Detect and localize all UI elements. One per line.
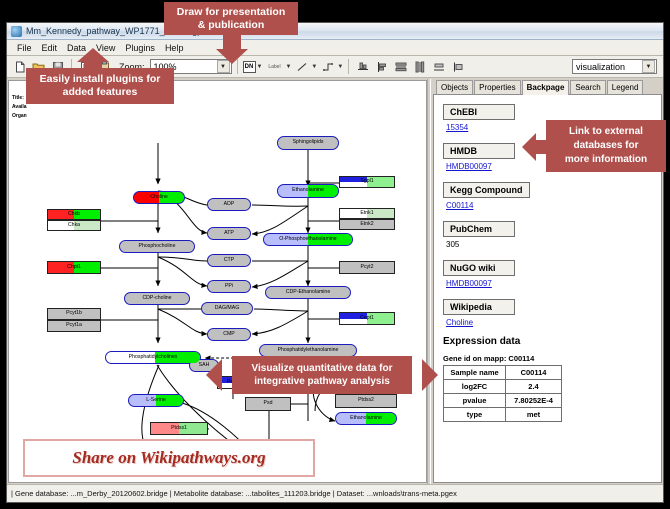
node-label: Ethanolamine	[350, 416, 382, 421]
node-ppi[interactable]: PPi	[207, 280, 251, 293]
node-phosphatidylcholines[interactable]: Phosphatidylcholines	[105, 351, 201, 364]
share-banner: Share on Wikipathways.org	[23, 439, 315, 477]
node-dag-mag[interactable]: DAG/MAG	[201, 302, 253, 315]
node-etnk1[interactable]: Etnk1	[339, 208, 395, 219]
node-label: PPi	[225, 284, 233, 289]
table-cell-key: type	[444, 408, 506, 422]
connector-icon[interactable]	[319, 58, 336, 75]
connector-dropdown[interactable]: ▼	[319, 58, 343, 75]
backpage-link-wikipedia[interactable]: Choline	[446, 318, 661, 327]
chevron-down-icon[interactable]: ▼	[311, 64, 317, 70]
node-label: CDP-Ethanolamine	[286, 290, 330, 295]
node-psd[interactable]: Psd	[245, 397, 291, 411]
node-cept1[interactable]: Cept1	[339, 312, 395, 325]
table-cell-value: 7.80252E-4	[506, 394, 562, 408]
table-cell-value: C00114	[506, 366, 562, 380]
node-sphingolipids[interactable]: Sphingolipids	[277, 136, 339, 150]
backpage-header-pubchem: PubChem	[443, 221, 515, 237]
node-ethanolamine-bottom[interactable]: Ethanolamine	[335, 412, 397, 425]
line-dropdown[interactable]: ▼	[293, 58, 317, 75]
side-panel-tabs: Objects Properties Backpage Search Legen…	[433, 80, 662, 95]
chevron-down-icon[interactable]: ▼	[642, 60, 655, 73]
chevron-down-icon[interactable]: ▼	[337, 64, 343, 70]
node-pcyt2[interactable]: Pcyt2	[339, 261, 395, 274]
distribute-horizontal-icon[interactable]	[411, 58, 428, 75]
label-dropdown[interactable]: Label ▼	[264, 58, 291, 75]
tab-backpage[interactable]: Backpage	[522, 80, 570, 95]
backpage-header-chebi: ChEBI	[443, 104, 515, 120]
node-label: Ptdss1	[171, 426, 187, 431]
node-label: CTP	[224, 258, 234, 263]
node-phosphocholine[interactable]: Phosphocholine	[119, 240, 195, 253]
node-label: CDP-choline	[142, 296, 171, 301]
menu-help[interactable]: Help	[160, 43, 189, 53]
backpage-header-nugo: NuGO wiki	[443, 260, 515, 276]
node-label: ATP	[224, 231, 234, 236]
pathway-diagram[interactable]: Sphingolipids Ethanolamine O-Phosphoetha…	[9, 81, 426, 482]
app-icon	[11, 26, 22, 37]
backpage-link-kegg[interactable]: C00114	[446, 201, 661, 210]
links-callout-line2: databases for	[573, 139, 638, 153]
chevron-down-icon[interactable]: ▼	[285, 64, 291, 70]
node-cdp-choline[interactable]: CDP-choline	[124, 292, 190, 305]
links-callout-line3: more information	[565, 153, 647, 167]
node-chpt1[interactable]: Chpt1	[47, 261, 101, 274]
node-label: Cept1	[360, 316, 374, 321]
node-label: Pcyt1b	[66, 311, 82, 316]
node-o-phosphoethanolamine[interactable]: O-Phosphoethanolamine	[263, 233, 353, 246]
node-label: Pcyt1a	[66, 323, 82, 328]
backpage-header-hmdb: HMDB	[443, 143, 515, 159]
draw-callout: Draw for presentation & publication	[164, 2, 298, 35]
node-chkb[interactable]: Chkb	[47, 209, 101, 220]
table-cell-key: Sample name	[444, 366, 506, 380]
node-label: Choline	[150, 195, 168, 200]
visualize-callout-line2: integrative pathway analysis	[254, 375, 390, 388]
node-label: Pcyt2	[361, 265, 374, 270]
align-left-icon[interactable]	[373, 58, 390, 75]
node-cdp-ethanolamine[interactable]: CDP-Ethanolamine	[265, 286, 351, 299]
node-adp[interactable]: ADP	[207, 198, 251, 211]
table-cell-value: met	[506, 408, 562, 422]
distribute-vertical-icon[interactable]	[392, 58, 409, 75]
node-label: Chpt1	[67, 265, 81, 270]
label-icon[interactable]: Label	[264, 58, 284, 75]
node-ptdss2[interactable]: Ptdss2	[335, 394, 397, 408]
node-label: L-Serine	[146, 398, 166, 403]
backpage-header-kegg: Kegg Compound	[443, 182, 530, 198]
node-etnk2[interactable]: Etnk2	[339, 219, 395, 230]
table-cell-key: log2FC	[444, 380, 506, 394]
node-label: ADP	[224, 202, 235, 207]
node-chka[interactable]: Chka	[47, 220, 101, 231]
node-pcyt1a[interactable]: Pcyt1a	[47, 320, 101, 332]
visualize-callout: Visualize quantitative data for integrat…	[232, 356, 412, 394]
node-cmp[interactable]: CMP	[207, 328, 251, 341]
node-label: DAG/MAG	[215, 306, 240, 311]
expression-data-table: Sample name C00114 log2FC 2.4 pvalue 7.8…	[443, 365, 562, 422]
backpage-header-wikipedia: Wikipedia	[443, 299, 515, 315]
node-label: O-Phosphoethanolamine	[279, 237, 336, 242]
menu-edit[interactable]: Edit	[37, 43, 63, 53]
share-banner-text: Share on Wikipathways.org	[72, 448, 265, 468]
node-label: Chka	[68, 223, 80, 228]
chevron-down-icon[interactable]: ▼	[257, 64, 263, 70]
node-label: Chkb	[68, 212, 80, 217]
toolbar-separator	[348, 59, 349, 74]
menu-file[interactable]: File	[12, 43, 37, 53]
plugins-callout-line2: added features	[63, 86, 138, 99]
backpage-value-pubchem: 305	[446, 240, 661, 249]
node-label: CMP	[223, 332, 235, 337]
table-row: pvalue 7.80252E-4	[444, 394, 562, 408]
align-top-icon[interactable]	[354, 58, 371, 75]
node-label: Sphingolipids	[293, 140, 324, 145]
stack-center-icon[interactable]	[430, 58, 447, 75]
table-row: Sample name C00114	[444, 366, 562, 380]
tab-legend[interactable]: Legend	[607, 80, 644, 94]
visualization-combo[interactable]: visualization ▼	[572, 59, 657, 74]
backpage-link-nugo[interactable]: HMDB00097	[446, 279, 661, 288]
node-label: Ptdss2	[358, 398, 374, 403]
gene-id-caption: Gene id on mapp: C00114	[443, 354, 661, 363]
node-label: Ethanolamine	[292, 188, 324, 193]
node-sgpl1[interactable]: Sgpl1	[339, 176, 395, 188]
node-label: Phosphatidylcholines	[129, 355, 178, 360]
node-ctp[interactable]: CTP	[207, 254, 251, 267]
visualize-callout-line1: Visualize quantitative data for	[252, 362, 393, 375]
node-choline[interactable]: Choline	[133, 191, 185, 204]
tab-properties[interactable]: Properties	[474, 80, 520, 94]
menu-plugins[interactable]: Plugins	[120, 43, 160, 53]
tab-search[interactable]: Search	[570, 80, 605, 94]
node-atp[interactable]: ATP	[207, 227, 251, 240]
node-l-serine-left[interactable]: L-Serine	[128, 394, 184, 407]
title-bar: Mm_Kennedy_pathway_WP1771_45176.gpml	[7, 23, 663, 40]
draw-callout-line2: & publication	[198, 19, 265, 32]
table-cell-key: pvalue	[444, 394, 506, 408]
node-pcyt1b[interactable]: Pcyt1b	[47, 308, 101, 320]
bring-front-icon[interactable]	[449, 58, 466, 75]
links-callout-line1: Link to external	[569, 125, 643, 139]
expression-data-title: Expression data	[443, 336, 661, 347]
screenshot-root: Mm_Kennedy_pathway_WP1771_45176.gpml Fil…	[0, 0, 670, 509]
node-ptdss1[interactable]: Ptdss1	[150, 422, 208, 435]
draw-callout-line1: Draw for presentation	[177, 6, 286, 19]
node-label: Phosphatidylethanolamine	[278, 348, 339, 353]
table-row: type met	[444, 408, 562, 422]
pathway-canvas[interactable]: Title: Availa Organ	[8, 80, 427, 483]
visualization-value: visualization	[576, 62, 642, 72]
pane-splitter[interactable]	[427, 79, 431, 484]
tab-objects[interactable]: Objects	[436, 80, 473, 94]
line-icon[interactable]	[293, 58, 310, 75]
node-ethanolamine[interactable]: Ethanolamine	[277, 184, 339, 198]
table-row: log2FC 2.4	[444, 380, 562, 394]
plugins-callout-line1: Easily install plugins for	[40, 73, 161, 86]
node-label: Psd	[264, 401, 273, 406]
table-cell-value: 2.4	[506, 380, 562, 394]
status-text: | Gene database: ...m_Derby_20120602.bri…	[11, 489, 457, 498]
node-label: Etnk2	[360, 222, 373, 227]
node-label: Phosphocholine	[139, 244, 176, 249]
node-label: Etnk1	[360, 211, 373, 216]
status-bar: | Gene database: ...m_Derby_20120602.bri…	[7, 484, 663, 502]
links-callout: Link to external databases for more info…	[546, 120, 666, 172]
node-label: Sgpl1	[360, 179, 373, 184]
